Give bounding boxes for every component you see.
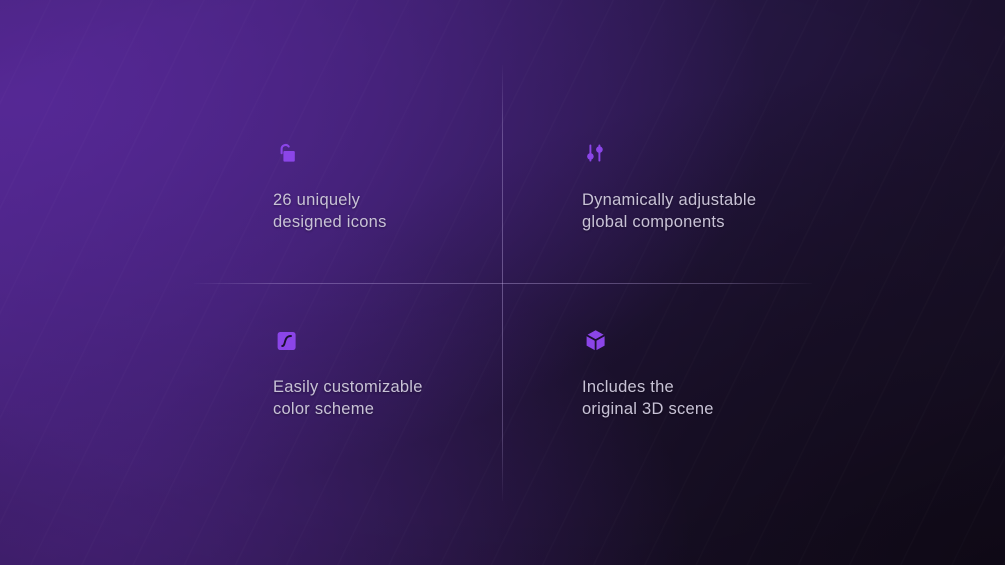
sliders-icon [582, 140, 610, 168]
feature-item-3d-scene: Includes the original 3D scene [582, 327, 714, 420]
feature-item-components: Dynamically adjustable global components [582, 140, 756, 233]
feature-label: Easily customizable color scheme [273, 376, 423, 420]
feature-grid: 26 uniquely designed icons Dynamically a… [0, 0, 1005, 565]
feature-item-icons: 26 uniquely designed icons [273, 140, 387, 233]
easing-curve-icon [273, 327, 301, 355]
cube-3d-icon [582, 327, 610, 355]
feature-label: Dynamically adjustable global components [582, 189, 756, 233]
unlock-icon [273, 140, 301, 168]
feature-label: 26 uniquely designed icons [273, 189, 387, 233]
feature-item-color-scheme: Easily customizable color scheme [273, 327, 423, 420]
feature-slide: 26 uniquely designed icons Dynamically a… [0, 0, 1005, 565]
feature-label: Includes the original 3D scene [582, 376, 714, 420]
